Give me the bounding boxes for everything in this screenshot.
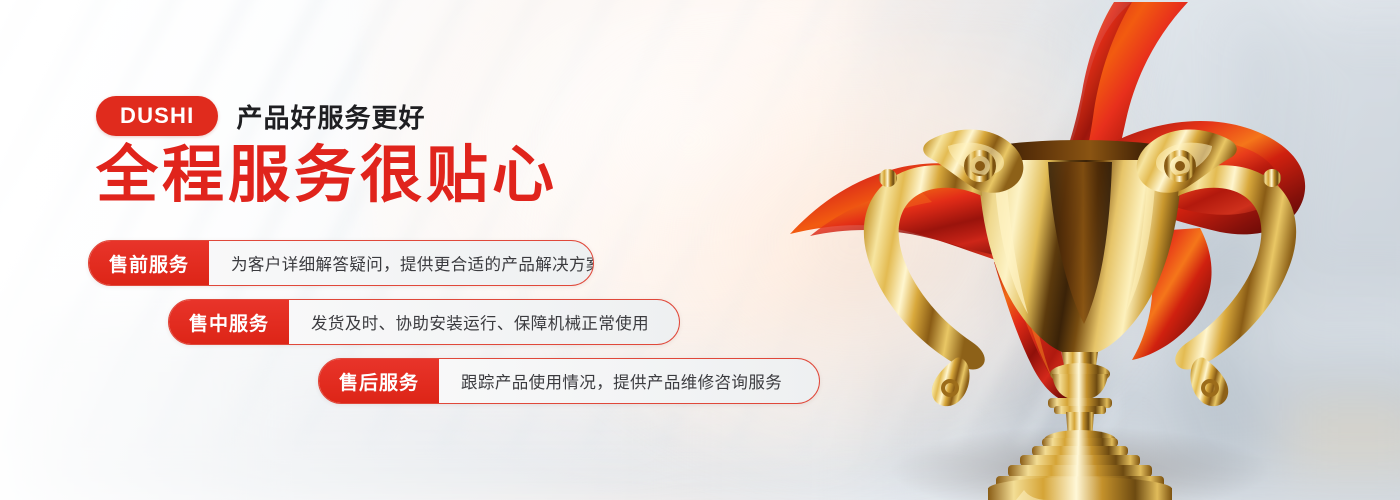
service-description: 为客户详细解答疑问，提供更合适的产品解决方案 [209, 241, 594, 285]
service-label: 售后服务 [319, 359, 439, 403]
eyebrow-text: 产品好服务更好 [236, 98, 425, 135]
service-item-aftersale[interactable]: 售后服务 跟踪产品使用情况，提供产品维修咨询服务 [318, 358, 820, 404]
promo-banner: DUSHI 产品好服务更好 全程服务很贴心 售前服务 为客户详细解答疑问，提供更… [0, 0, 1400, 500]
banner-content: DUSHI 产品好服务更好 全程服务很贴心 售前服务 为客户详细解答疑问，提供更… [0, 0, 880, 500]
service-label: 售中服务 [169, 300, 289, 344]
service-item-insale[interactable]: 售中服务 发货及时、协助安装运行、保障机械正常使用 [168, 299, 680, 345]
brand-badge: DUSHI [96, 96, 218, 136]
page-title: 全程服务很贴心 [96, 143, 558, 210]
service-label: 售前服务 [89, 241, 209, 285]
service-description: 跟踪产品使用情况，提供产品维修咨询服务 [439, 359, 819, 403]
service-description: 发货及时、协助安装运行、保障机械正常使用 [289, 300, 679, 344]
eyebrow-row: DUSHI 产品好服务更好 [96, 96, 425, 136]
service-item-presale[interactable]: 售前服务 为客户详细解答疑问，提供更合适的产品解决方案 [88, 240, 594, 286]
